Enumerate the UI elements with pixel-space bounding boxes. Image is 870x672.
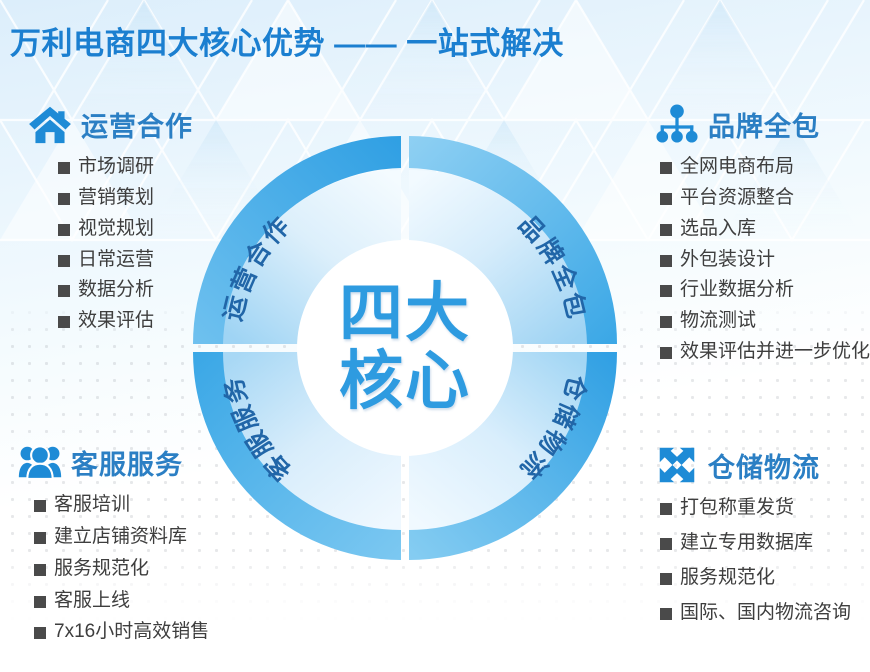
bullet-square [660, 503, 672, 515]
bullet-square [660, 573, 672, 585]
list-item-label: 外包装设计 [680, 249, 775, 271]
quadrant-logistics-header: 仓储物流 [655, 445, 851, 485]
bullet-square [34, 500, 46, 512]
list-item-label: 打包称重发货 [680, 497, 794, 519]
list-item-label: 客服培训 [54, 494, 130, 516]
list-item-label: 营销策划 [78, 187, 154, 209]
list-item-label: 视觉规划 [78, 218, 154, 240]
list-item: 效果评估并进一步优化 [660, 341, 870, 363]
org-chart-icon [655, 104, 699, 144]
list-item: 建立专用数据库 [660, 532, 851, 554]
quadrant-brand: 品牌全包 全网电商布局 平台资源整合 选品入库 外包装设计 行业数据分析 物流测… [655, 104, 870, 372]
quadrant-service-list: 客服培训 建立店铺资料库 服务规范化 客服上线 7x16小时高效销售 [34, 494, 209, 643]
list-item: 服务规范化 [34, 558, 209, 580]
bullet-square [58, 193, 70, 205]
quadrant-logistics-list: 打包称重发货 建立专用数据库 服务规范化 国际、国内物流咨询 [660, 497, 851, 623]
list-item-label: 服务规范化 [54, 558, 149, 580]
list-item: 建立店铺资料库 [34, 526, 209, 548]
page-title: 万利电商四大核心优势 —— 一站式解决 [10, 18, 564, 63]
donut-center-hole [297, 240, 513, 456]
quadrant-operation-title: 运营合作 [81, 105, 193, 144]
infographic-canvas: 万利电商四大核心优势 —— 一站式解决 [0, 0, 870, 672]
bullet-square [34, 596, 46, 608]
bullet-square [660, 193, 672, 205]
list-item-label: 日常运营 [78, 249, 154, 271]
quadrant-logistics-title: 仓储物流 [708, 446, 820, 485]
list-item: 效果评估 [58, 310, 193, 332]
house-icon [28, 104, 72, 144]
list-item-label: 选品入库 [680, 218, 756, 240]
bullet-square [34, 627, 46, 639]
list-item-label: 建立专用数据库 [680, 532, 813, 554]
quadrant-brand-list: 全网电商布局 平台资源整合 选品入库 外包装设计 行业数据分析 物流测试 效果评… [660, 156, 870, 363]
list-item-label: 效果评估并进一步优化 [680, 341, 870, 363]
list-item-label: 市场调研 [78, 156, 154, 178]
quadrant-brand-header: 品牌全包 [655, 104, 870, 144]
quadrant-service: 客服服务 客服培训 建立店铺资料库 服务规范化 客服上线 7x16小时高效销售 [18, 442, 209, 653]
bullet-square [34, 564, 46, 576]
list-item-label: 平台资源整合 [680, 187, 794, 209]
list-item: 营销策划 [58, 187, 193, 209]
list-item: 打包称重发货 [660, 497, 851, 519]
list-item: 视觉规划 [58, 218, 193, 240]
bullet-square [660, 608, 672, 620]
list-item: 行业数据分析 [660, 279, 870, 301]
list-item: 客服上线 [34, 590, 209, 612]
bullet-square [660, 347, 672, 359]
bullet-square [660, 255, 672, 267]
users-icon [18, 442, 62, 482]
four-arrows-icon [655, 445, 699, 485]
list-item: 服务规范化 [660, 567, 851, 589]
list-item-label: 建立店铺资料库 [54, 526, 187, 548]
list-item-label: 行业数据分析 [680, 279, 794, 301]
bullet-square [58, 255, 70, 267]
bullet-square [660, 538, 672, 550]
core-donut-chart: 运营合作 品牌全包 客服服务 仓储物流 [185, 128, 625, 568]
quadrant-operation-list: 市场调研 营销策划 视觉规划 日常运营 数据分析 效果评估 [58, 156, 193, 332]
list-item: 客服培训 [34, 494, 209, 516]
bullet-square [58, 162, 70, 174]
bullet-square [660, 285, 672, 297]
quadrant-operation-header: 运营合作 [28, 104, 193, 144]
bullet-square [660, 224, 672, 236]
list-item: 数据分析 [58, 279, 193, 301]
list-item: 平台资源整合 [660, 187, 870, 209]
quadrant-service-header: 客服服务 [18, 442, 209, 482]
list-item-label: 数据分析 [78, 279, 154, 301]
bullet-square [34, 532, 46, 544]
bullet-square [58, 224, 70, 236]
quadrant-logistics: 仓储物流 打包称重发货 建立专用数据库 服务规范化 国际、国内物流咨询 [655, 445, 851, 636]
list-item-label: 效果评估 [78, 310, 154, 332]
quadrant-brand-title: 品牌全包 [708, 105, 820, 144]
bullet-square [660, 316, 672, 328]
list-item-label: 服务规范化 [680, 567, 775, 589]
list-item: 物流测试 [660, 310, 870, 332]
quadrant-service-title: 客服服务 [71, 443, 183, 482]
bullet-square [660, 162, 672, 174]
quadrant-operation: 运营合作 市场调研 营销策划 视觉规划 日常运营 数据分析 效果评估 [28, 104, 193, 341]
list-item-label: 物流测试 [680, 310, 756, 332]
list-item: 市场调研 [58, 156, 193, 178]
bullet-square [58, 285, 70, 297]
list-item-label: 7x16小时高效销售 [54, 621, 209, 643]
list-item: 国际、国内物流咨询 [660, 602, 851, 624]
list-item: 选品入库 [660, 218, 870, 240]
list-item: 7x16小时高效销售 [34, 621, 209, 643]
list-item: 外包装设计 [660, 249, 870, 271]
list-item: 日常运营 [58, 249, 193, 271]
list-item-label: 全网电商布局 [680, 156, 794, 178]
bullet-square [58, 316, 70, 328]
list-item: 全网电商布局 [660, 156, 870, 178]
list-item-label: 国际、国内物流咨询 [680, 602, 851, 624]
list-item-label: 客服上线 [54, 590, 130, 612]
